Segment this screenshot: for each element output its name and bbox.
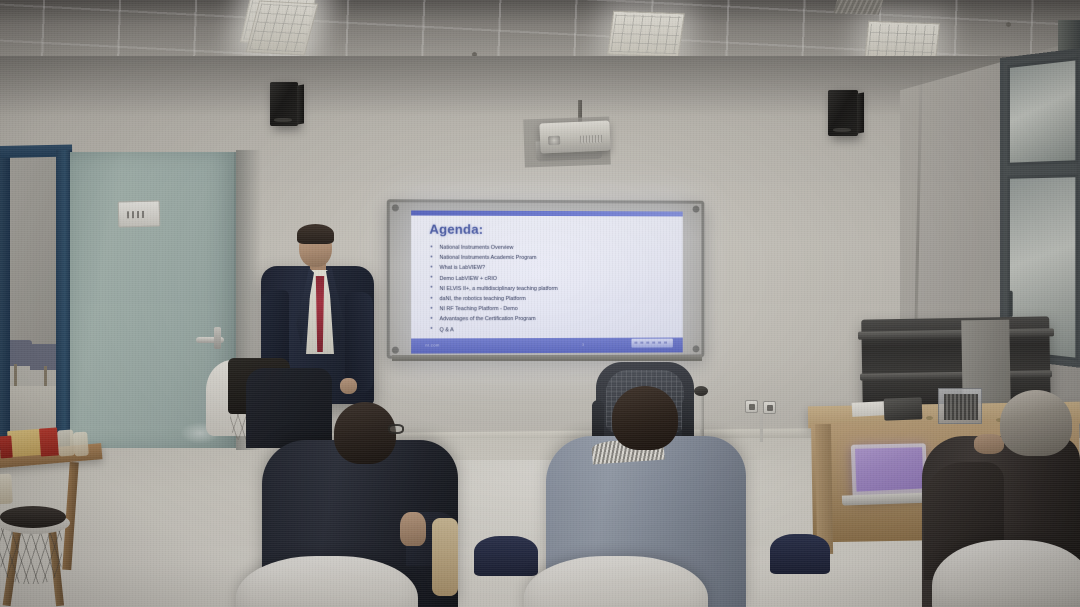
slide-bullet: National Instruments Overview [429,243,669,254]
projected-slide: Agenda: National Instruments Overview Na… [411,210,683,353]
window-handle[interactable] [1009,291,1013,318]
chair-seat-cushion [770,534,830,574]
refreshment-box [0,436,13,459]
wall-speaker-right [828,90,858,136]
slide-bullet: What is LabVIEW? [429,263,669,273]
window-pane [1007,57,1078,166]
presenter-hand [340,378,357,394]
sign-text-mark [127,211,145,218]
laptop-screen [855,447,923,491]
photo-scene: Agenda: National Instruments Overview Na… [0,0,1080,607]
chair-leg [14,364,17,386]
attendee-dark-suit-head [334,402,396,464]
presenter-arm [345,292,373,392]
chair-wooden-post [432,518,458,596]
slide-bullet: Demo LabVIEW + cRIO [429,274,669,284]
refreshment-jar [0,474,13,505]
clear-equipment-case [938,388,982,424]
stool-seat [0,506,66,528]
hvac-vent-icon [833,0,884,15]
slide-bullet: National Instruments Academic Program [429,253,669,263]
wall-socket [745,400,758,413]
attendee-grey-hair-head [1000,390,1072,456]
bench-small-object [926,416,933,420]
slide-bullet: NI RF Teaching Platform - Demo [429,304,669,315]
refreshment-jar [73,432,89,457]
wall-socket [763,401,776,414]
ni-logo-icon [631,339,672,348]
door-jamb [0,146,10,450]
whiteboard: Agenda: National Instruments Overview Na… [387,199,705,358]
slide-bullet-list: National Instruments Overview National I… [429,243,669,335]
slide-top-bar [411,210,683,216]
wire-basket [0,528,62,584]
ceiling-fixture-dot [1006,22,1011,27]
refreshment-jar [57,429,75,456]
paper-sheet [852,401,887,417]
lab-bench-leg [815,424,833,554]
projector-vent-icon [580,135,602,144]
wall-speaker-left [270,82,298,126]
refreshment-box [39,427,59,456]
ceiling-light-panel [607,11,685,57]
slide-footer-bar: ni.com 3 [411,338,683,354]
whiteboard-corner [693,206,700,213]
slide-bullet: NI ELVIS II+, a multidisciplinary teachi… [429,284,669,294]
slide-bullet: Q & A [429,324,669,335]
whiteboard-corner [693,345,700,352]
door-lock[interactable] [214,327,221,349]
slide-footer-text: ni.com [425,342,439,347]
slide-bullet: Advantages of the Certification Program [429,314,669,325]
chair-leg [44,366,47,386]
whiteboard-marker-tray [392,355,702,361]
whiteboard-corner [392,347,399,354]
projector-lens-icon [548,136,560,146]
wall-mounted-sign [118,200,161,227]
microphone-stand [700,394,704,440]
speaker-side-panel [857,92,864,134]
attendee-hand [974,434,1004,454]
attendee-back-row [246,368,332,448]
chair-seat-cushion [474,536,538,576]
case-contents [944,394,978,420]
bench-device [884,397,923,420]
presenter-hair [297,224,334,244]
projector [539,120,610,153]
attendee-grey-jacket-head [612,386,678,450]
slide-title: Agenda: [429,222,483,237]
microphone-icon [694,386,708,396]
attendee-hand [400,512,426,546]
laptop[interactable] [851,443,928,500]
slide-bullet: daNI, the robotics teaching Platform [429,294,669,304]
glasses-icon [388,424,404,434]
slide-page-number: 3 [582,342,584,347]
wall-conduit [760,414,763,442]
whiteboard-corner [392,204,399,211]
speaker-side-panel [297,84,304,124]
